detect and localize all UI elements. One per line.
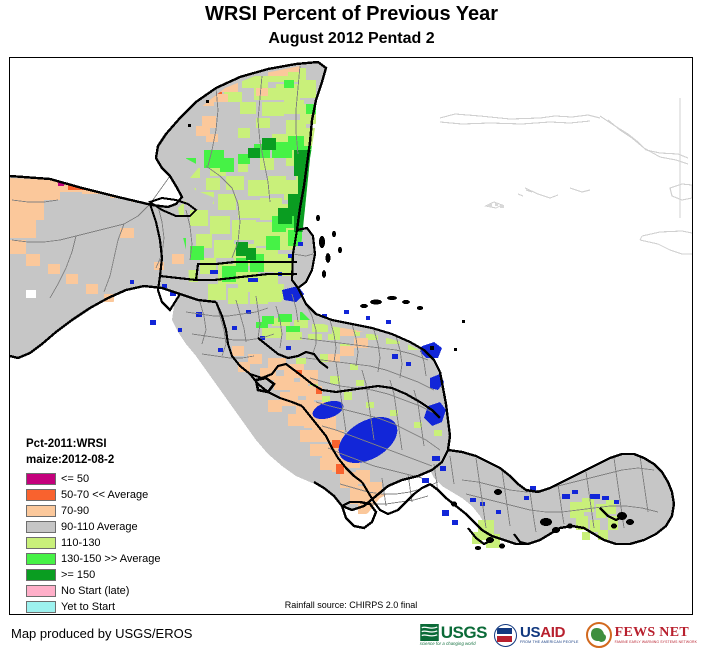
legend-label: <= 50 — [61, 473, 89, 485]
usgs-wave-icon — [420, 624, 439, 641]
usgs-wordmark: USGS — [441, 624, 487, 641]
legend-row: No Start (late) — [26, 583, 161, 599]
globe-icon — [586, 622, 612, 648]
legend-label: No Start (late) — [61, 585, 129, 597]
legend-label: >= 150 — [61, 569, 95, 581]
legend-label: 90-110 Average — [61, 521, 138, 533]
legend-swatch — [26, 537, 56, 549]
logo-bar: USGS science for a changing world USAID … — [420, 622, 697, 648]
legend-row: 130-150 >> Average — [26, 551, 161, 567]
usgs-logo: USGS science for a changing world — [420, 624, 487, 647]
fews-net-logo: FEWS NET FAMINE EARLY WARNING SYSTEMS NE… — [586, 622, 697, 648]
legend-row: 110-130 — [26, 535, 161, 551]
legend-swatch — [26, 489, 56, 501]
fews-wordmark: FEWS NET — [615, 625, 697, 640]
map-legend: Pct-2011:WRSI maize:2012-08-2 <= 5050-70… — [26, 436, 161, 615]
legend-swatch — [26, 505, 56, 517]
map-credit: Map produced by USGS/EROS — [11, 626, 192, 642]
legend-label: 130-150 >> Average — [61, 553, 161, 565]
legend-row: >= 150 — [26, 567, 161, 583]
usgs-tagline: science for a changing world — [420, 641, 476, 647]
legend-row: 50-70 << Average — [26, 487, 161, 503]
usaid-word-us: US — [520, 624, 540, 641]
usaid-wordmark: USAID — [520, 625, 579, 640]
page-subtitle: August 2012 Pentad 2 — [0, 29, 703, 49]
legend-row: <= 50 — [26, 471, 161, 487]
legend-row: 90-110 Average — [26, 519, 161, 535]
legend-swatch — [26, 585, 56, 597]
page-title: WRSI Percent of Previous Year — [0, 3, 703, 25]
legend-swatch — [26, 473, 56, 485]
legend-items: <= 5050-70 << Average70-9090-110 Average… — [26, 471, 161, 615]
map-frame: Pct-2011:WRSI maize:2012-08-2 <= 5050-70… — [9, 57, 693, 615]
legend-row: 70-90 — [26, 503, 161, 519]
legend-swatch — [26, 569, 56, 581]
legend-label: 110-130 — [61, 537, 101, 549]
fews-tagline: FAMINE EARLY WARNING SYSTEMS NETWORK — [615, 640, 697, 645]
map-page: WRSI Percent of Previous Year August 201… — [0, 0, 703, 662]
legend-swatch — [26, 521, 56, 533]
legend-swatch — [26, 601, 56, 613]
legend-title-line1: Pct-2011:WRSI — [26, 436, 161, 452]
legend-label: 70-90 — [61, 505, 89, 517]
usaid-word-aid: AID — [540, 624, 565, 641]
usaid-logo: USAID FROM THE AMERICAN PEOPLE — [494, 624, 579, 647]
usaid-tagline: FROM THE AMERICAN PEOPLE — [520, 640, 579, 645]
legend-title-line2: maize:2012-08-2 — [26, 452, 161, 468]
usaid-seal-icon — [494, 624, 517, 647]
legend-row: Yet to Start — [26, 599, 161, 615]
legend-swatch — [26, 553, 56, 565]
legend-label: Yet to Start — [61, 601, 115, 613]
legend-label: 50-70 << Average — [61, 489, 148, 501]
